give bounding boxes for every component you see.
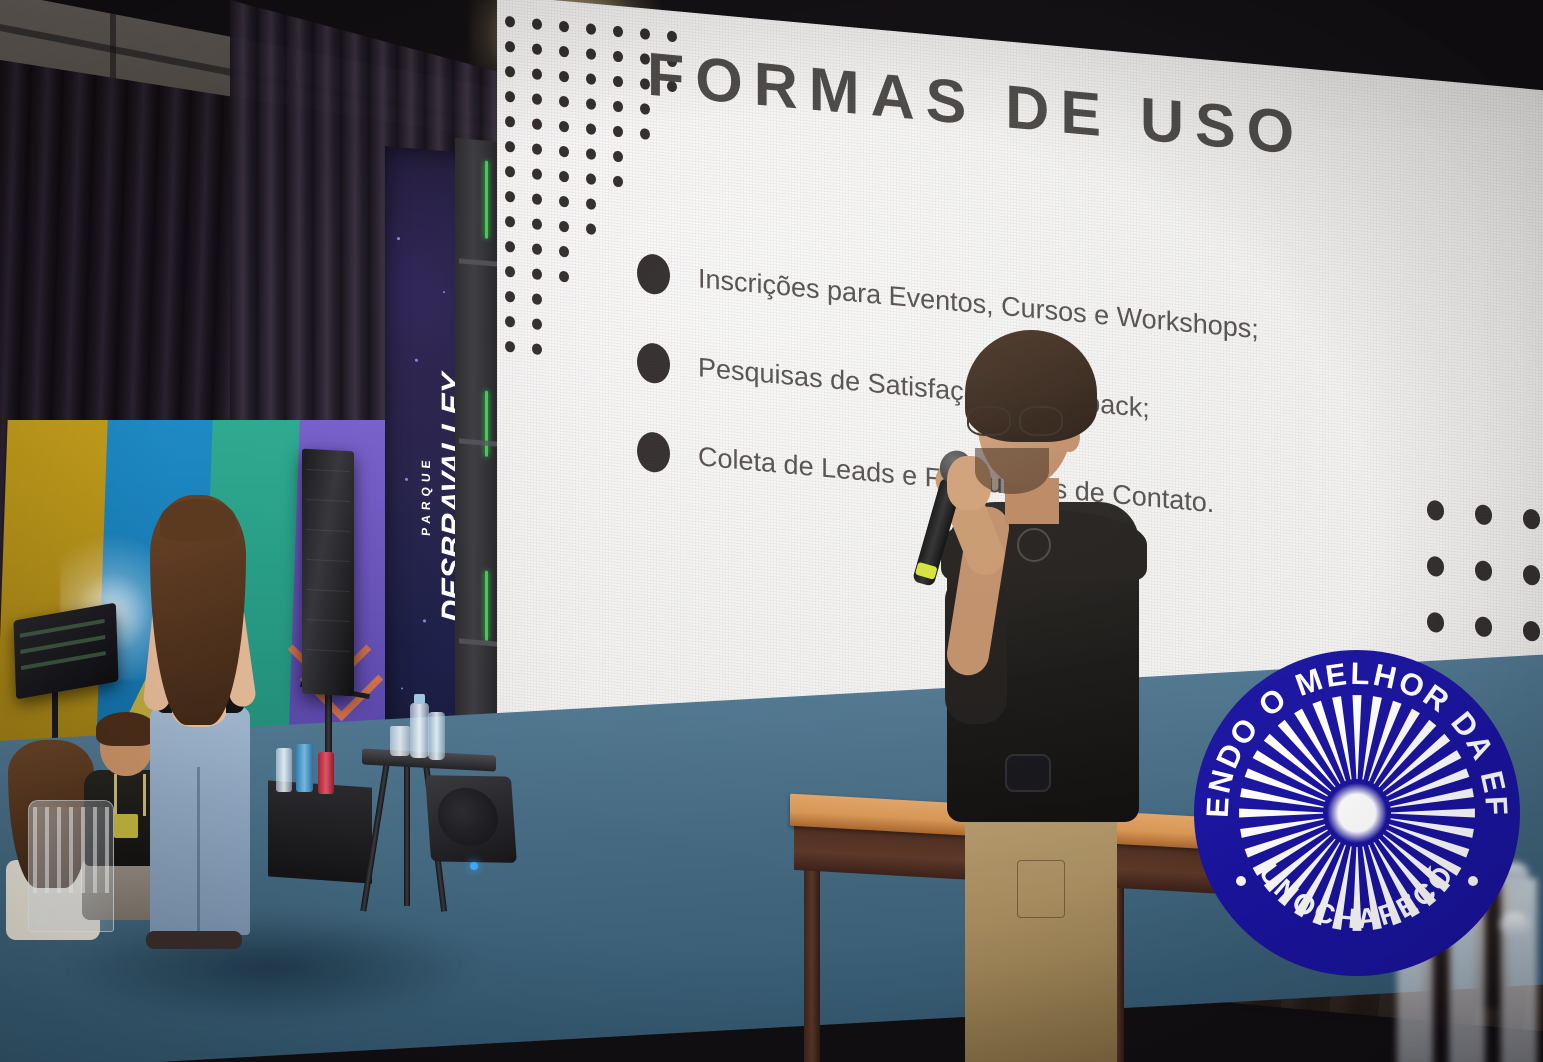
drinking-glass	[390, 726, 410, 756]
presenter-female	[120, 495, 280, 955]
stage-monitor-speaker	[425, 775, 517, 863]
wristwatch	[1005, 754, 1051, 792]
presenter-male-shirt-logo	[1017, 528, 1051, 562]
presenter-male-pants	[965, 800, 1117, 1062]
water-bottle-red	[318, 752, 334, 794]
acrylic-chair	[28, 800, 114, 932]
bullet-dot-icon	[637, 253, 670, 296]
presenter-male-beard	[975, 448, 1049, 494]
bullet-dot-icon	[637, 431, 670, 474]
tripod-leg	[404, 762, 410, 906]
presenter-male-pocket	[1017, 860, 1065, 918]
water-bottle-on-tripod	[410, 703, 429, 758]
efapi-unochapeco-badge: VIVENDO O MELHOR DA EFAPI UNOCHAPECÓ	[1192, 648, 1522, 978]
line-array-speaker	[302, 449, 354, 697]
slide-title: FORMAS DE USO	[647, 39, 1305, 169]
table-leg	[804, 866, 820, 1062]
presenter-male	[905, 330, 1175, 1060]
presenter-female-jeans	[150, 707, 250, 935]
side-shelf	[268, 780, 372, 883]
eyeglasses-icon	[967, 406, 1075, 432]
bullet-dot-icon	[637, 342, 670, 385]
stage-photo-scene: PARQUE DESBRAVALLEY FORMAS DE USO In	[0, 0, 1543, 1062]
water-bottle-blue	[296, 744, 313, 792]
water-bottle-on-tripod	[428, 712, 445, 760]
presenter-female-sandals	[146, 931, 242, 949]
equipment-led-indicator	[470, 862, 478, 870]
presenter-female-hair-front	[160, 499, 236, 541]
